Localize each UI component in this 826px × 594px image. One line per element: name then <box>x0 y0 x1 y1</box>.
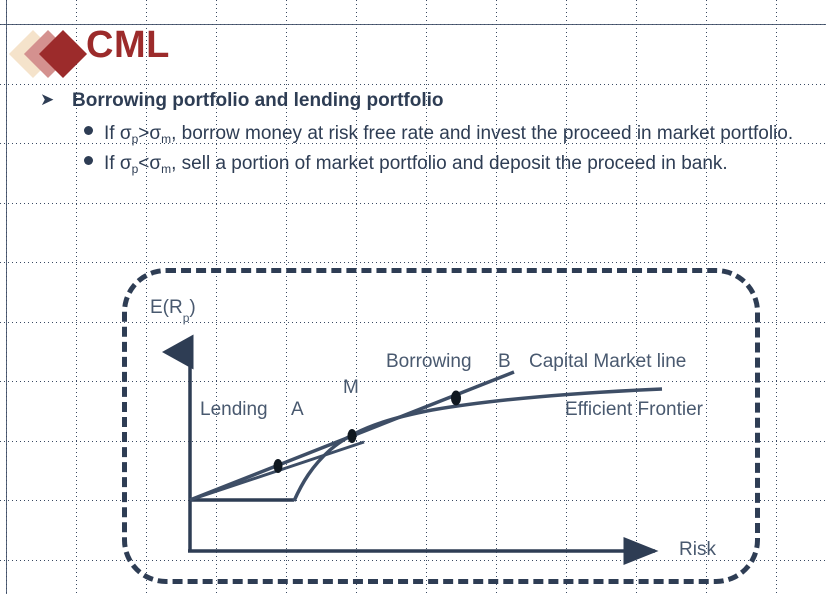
list-item-label: If σp<σm, sell a portion of market portf… <box>104 153 728 174</box>
arrow-bullet-icon: ➤ <box>40 90 54 110</box>
bullet-heading: ➤ Borrowing portfolio and lending portfo… <box>40 89 826 113</box>
point-a-label: A <box>291 400 304 419</box>
y-axis-label: E(Rp) <box>150 298 196 320</box>
list-item-label: If σp>σm, borrow money at risk free rate… <box>104 123 793 144</box>
dot-bullet-icon <box>84 156 93 165</box>
capital-market-line-label: Capital Market line <box>529 352 686 371</box>
bullet-heading-label: Borrowing portfolio and lending portfoli… <box>72 90 444 111</box>
list-item: If σp>σm, borrow money at risk free rate… <box>40 121 826 146</box>
page-title: CML <box>86 26 170 64</box>
dot-bullet-icon <box>84 126 93 135</box>
borrowing-label: Borrowing <box>386 352 472 371</box>
point-b-label: B <box>498 352 511 371</box>
data-point-a <box>274 459 283 473</box>
x-axis-label: Risk <box>679 540 716 559</box>
lending-label: Lending <box>200 400 268 419</box>
data-point-m <box>348 429 357 443</box>
cml-chart <box>122 268 760 584</box>
efficient-frontier-label: Efficient Frontier <box>565 400 703 419</box>
data-point-b <box>451 391 461 406</box>
point-m-label: M <box>343 378 359 397</box>
bullet-list: ➤ Borrowing portfolio and lending portfo… <box>40 89 826 181</box>
slide-logo: CML <box>14 28 214 80</box>
list-item: If σp<σm, sell a portion of market portf… <box>40 151 826 176</box>
